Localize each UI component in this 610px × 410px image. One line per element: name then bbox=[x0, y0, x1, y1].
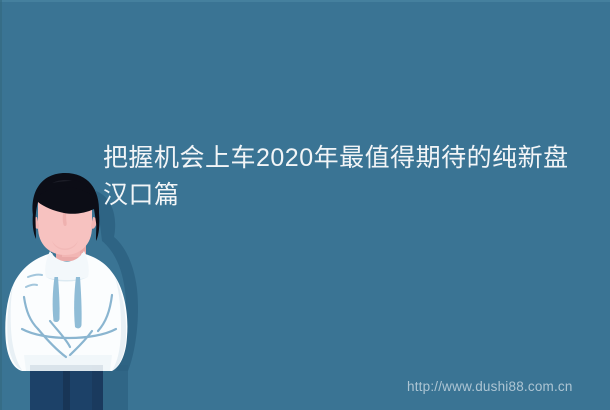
cover-image-canvas: 把握机会上车2020年最值得期待的纯新盘汉口篇 http://www.dushi… bbox=[0, 0, 610, 410]
top-edge-highlight bbox=[0, 0, 610, 2]
headline-title: 把握机会上车2020年最值得期待的纯新盘汉口篇 bbox=[103, 140, 573, 214]
hoodie bbox=[5, 251, 127, 371]
watermark-url: http://www.dushi88.com.cn bbox=[407, 378, 573, 395]
